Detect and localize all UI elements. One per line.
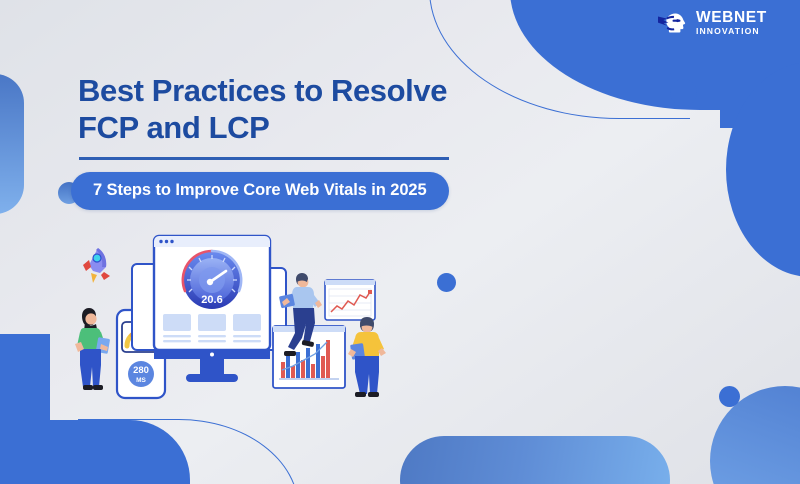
page-title: Best Practices to Resolve FCP and LCP [78, 73, 508, 146]
web-performance-illustration: 280 MS [60, 228, 405, 413]
brand-tagline: INNOVATION [696, 27, 767, 36]
webnet-head-icon [655, 8, 689, 38]
phone-badge-value: 280 [133, 365, 149, 376]
bottom-gradient-bar [400, 436, 670, 484]
banner-root: WEBNET INNOVATION Best Practices to Reso… [0, 0, 800, 484]
speedometer-value: 20.6 [201, 294, 222, 306]
desktop-monitor: 20.6 [154, 236, 270, 382]
dot-top-right [670, 79, 697, 106]
brand-logo[interactable]: WEBNET INNOVATION [655, 8, 767, 38]
person-yellow-shirt [348, 317, 386, 397]
subtitle-badge: 7 Steps to Improve Core Web Vitals in 20… [71, 172, 449, 210]
illustration-svg: 280 MS [60, 228, 405, 413]
line-chart-card [325, 280, 375, 320]
phone-badge-unit: MS [136, 377, 146, 384]
dot-center [437, 273, 456, 292]
page-title-line2: FCP and LCP [78, 110, 508, 147]
title-divider [79, 157, 449, 160]
person-woman-clipboard [75, 308, 110, 390]
dot-bottom-right [719, 386, 740, 407]
speedometer-gauge: 20.6 [183, 251, 241, 309]
page-title-line1: Best Practices to Resolve [78, 73, 508, 110]
rocket-icon [83, 248, 110, 283]
brand-name: WEBNET [696, 10, 767, 26]
bottom-outline-arc [78, 419, 299, 484]
left-vertical-bar-shape [0, 74, 24, 214]
brand-logo-text: WEBNET INNOVATION [696, 10, 767, 36]
